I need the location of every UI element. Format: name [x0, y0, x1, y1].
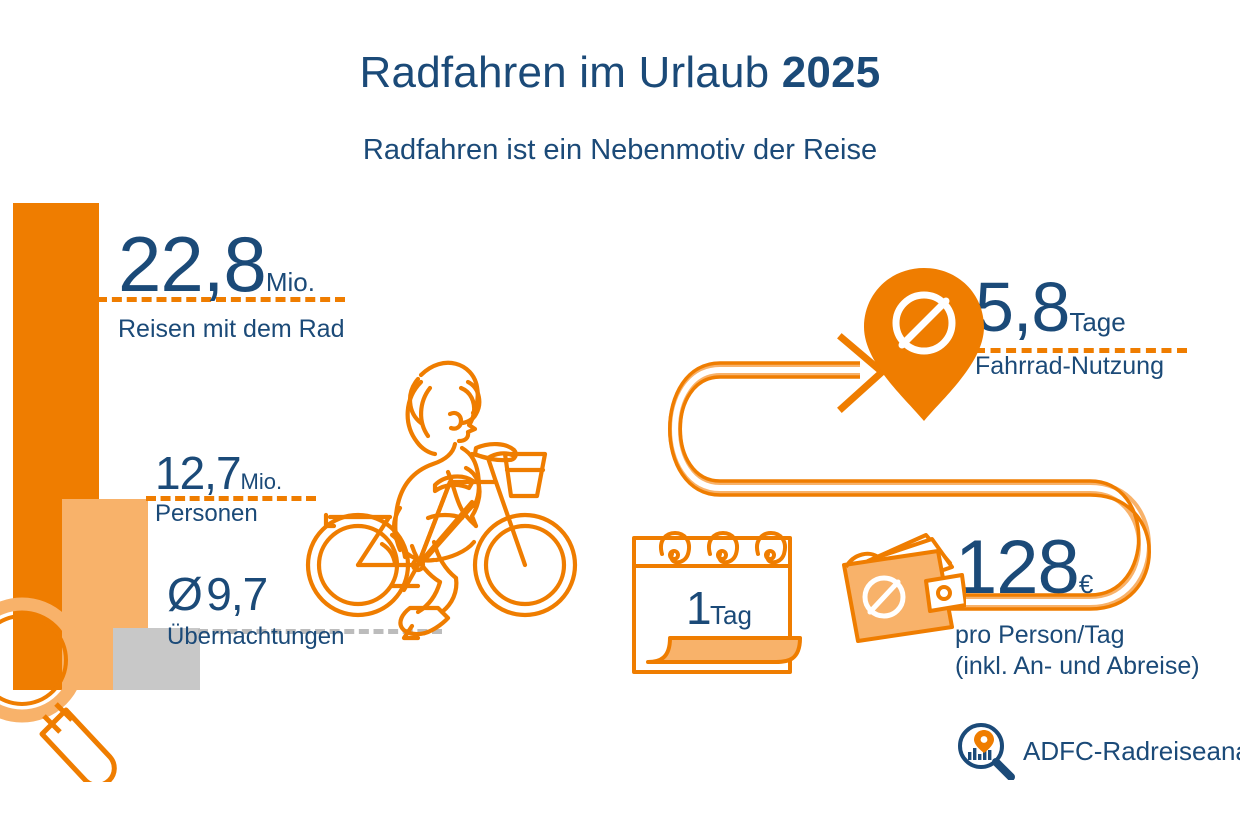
kpi-preis-unit: € — [1079, 569, 1093, 599]
calendar-day-unit: Tag — [710, 600, 752, 630]
kpi-preis-caption: pro Person/Tag — [955, 620, 1200, 651]
kpi-uebernachtungen: Ø 9,7 Übernachtungen — [167, 571, 344, 649]
kpi-reisen-unit: Mio. — [266, 267, 315, 297]
kpi-tage-value: 5,8 — [975, 268, 1069, 346]
kpi-personen-unit: Mio. — [241, 469, 283, 494]
average-diameter-symbol — [896, 295, 952, 351]
adfc-logo[interactable]: ADFC-Radreiseanalyse — [955, 722, 1240, 780]
adfc-magnifier-logo-icon — [955, 722, 1015, 780]
kpi-reisen-mit-dem-rad: 22,8Mio. Reisen mit dem Rad — [118, 225, 344, 342]
average-symbol-nights: Ø — [167, 568, 202, 620]
kpi-reisen-caption: Reisen mit dem Rad — [118, 317, 344, 342]
kpi-preis-pro-person-tag: 128€ pro Person/Tag (inkl. An- und Abrei… — [955, 530, 1200, 683]
kpi-tage-caption: Fahrrad-Nutzung — [975, 354, 1164, 379]
wallet-icon — [834, 523, 966, 645]
adfc-logo-text: ADFC-Radreiseanalyse — [1023, 736, 1240, 767]
kpi-fahrrad-nutzung: 5,8Tage Fahrrad-Nutzung — [975, 272, 1164, 379]
page-title-main: Radfahren im Urlaub — [360, 48, 782, 97]
kpi-preis-caption-secondary: (inkl. An- und Abreise) — [955, 651, 1200, 682]
page-title-year: 2025 — [782, 48, 881, 97]
kpi-uebernachtungen-value: 9,7 — [206, 568, 267, 620]
kpi-tage-unit: Tage — [1069, 307, 1125, 337]
kpi-preis-value: 128 — [955, 525, 1079, 610]
kpi-personen-caption: Personen — [155, 502, 282, 526]
page-title: Radfahren im Urlaub 2025 — [0, 48, 1240, 98]
kpi-personen: 12,7Mio. Personen — [155, 450, 282, 526]
kpi-uebernachtungen-caption: Übernachtungen — [167, 625, 344, 649]
infographic-canvas: Radfahren im Urlaub 2025 Radfahren ist e… — [0, 0, 1240, 827]
average-diameter-symbol — [865, 578, 903, 616]
page-subtitle: Radfahren ist ein Nebenmotiv der Reise — [0, 134, 1240, 167]
calendar-day-number: 1 — [686, 582, 712, 634]
calendar-icon: 1 Tag — [624, 522, 816, 686]
kpi-reisen-value: 22,8 — [118, 220, 266, 308]
map-pin-icon — [858, 263, 990, 425]
kpi-personen-value: 12,7 — [155, 447, 241, 499]
cyclist-illustration — [300, 322, 600, 642]
